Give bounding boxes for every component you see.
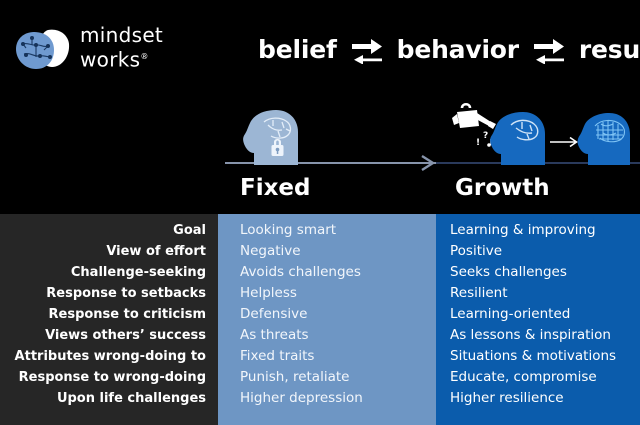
mindset-illustration: ? ! +: [0, 96, 640, 214]
table-cell-fixed: Helpless: [240, 283, 436, 304]
table-cell-growth: As lessons & inspiration: [450, 325, 640, 346]
table-cell-fixed: As threats: [240, 325, 436, 346]
header-zone: mindset works® belief behavior results: [0, 0, 640, 96]
brand-name-line2-text: works: [80, 48, 140, 72]
table-row-label: Response to setbacks: [0, 283, 206, 304]
mindset-infographic: mindset works® belief behavior results: [0, 0, 640, 425]
table-cell-growth: Learning-oriented: [450, 304, 640, 325]
table-cell-fixed: Defensive: [240, 304, 436, 325]
table-row-label: Upon life challenges: [0, 388, 206, 409]
brand-logo: mindset works®: [14, 24, 214, 76]
table-cell-fixed: Punish, retaliate: [240, 367, 436, 388]
fixed-mindset-label: Fixed: [240, 175, 311, 201]
belief-behavior-results-chain: belief behavior results: [258, 30, 640, 70]
exchange-arrows-icon-2: [533, 36, 565, 64]
table-row-label: Goal: [0, 220, 206, 241]
growing-brain-head-icon: [487, 111, 549, 165]
growth-mindset-label: Growth: [455, 175, 550, 201]
table-cell-growth: Positive: [450, 241, 640, 262]
brand-wordmark: mindset works®: [80, 24, 210, 71]
chain-word-results: results: [579, 35, 640, 65]
table-row-label: View of effort: [0, 241, 206, 262]
svg-text:!: !: [476, 138, 480, 148]
table-cell-growth: Learning & improving: [450, 220, 640, 241]
table-cell-growth: Educate, compromise: [450, 367, 640, 388]
exchange-arrows-icon: [351, 36, 383, 64]
chain-word-behavior: behavior: [397, 35, 519, 65]
chain-word-belief: belief: [258, 35, 337, 65]
table-row-label: Attributes wrong-doing to: [0, 346, 206, 367]
table-cell-fixed: Looking smart: [240, 220, 436, 241]
brain-icon: [14, 26, 76, 72]
registered-mark: ®: [140, 52, 148, 61]
table-cell-growth: Situations & motivations: [450, 346, 640, 367]
table-cell-fixed: Negative: [240, 241, 436, 262]
brand-name-line1: mindset: [80, 24, 210, 46]
table-cell-fixed: Fixed traits: [240, 346, 436, 367]
table-row-label: Response to criticism: [0, 304, 206, 325]
table-cell-growth: Resilient: [450, 283, 640, 304]
brand-name-line2: works®: [80, 46, 210, 71]
growth-mindset-column: Learning & improving Positive Seeks chal…: [436, 214, 640, 425]
dense-brain-head-icon: [575, 112, 633, 165]
table-row-label: Response to wrong-doing: [0, 367, 206, 388]
fixed-mindset-column: Looking smart Negative Avoids challenges…: [218, 214, 436, 425]
locked-brain-head-icon: [240, 109, 302, 165]
table-cell-fixed: Higher depression: [240, 388, 436, 409]
right-arrow-icon: [420, 154, 436, 172]
table-cell-growth: Higher resilience: [450, 388, 640, 409]
table-cell-growth: Seeks challenges: [450, 262, 640, 283]
attribute-column: Goal View of effort Challenge-seeking Re…: [0, 214, 218, 425]
table-row-label: Challenge-seeking: [0, 262, 206, 283]
comparison-table: Goal View of effort Challenge-seeking Re…: [0, 214, 640, 425]
table-row-label: Views others’ success: [0, 325, 206, 346]
table-cell-fixed: Avoids challenges: [240, 262, 436, 283]
